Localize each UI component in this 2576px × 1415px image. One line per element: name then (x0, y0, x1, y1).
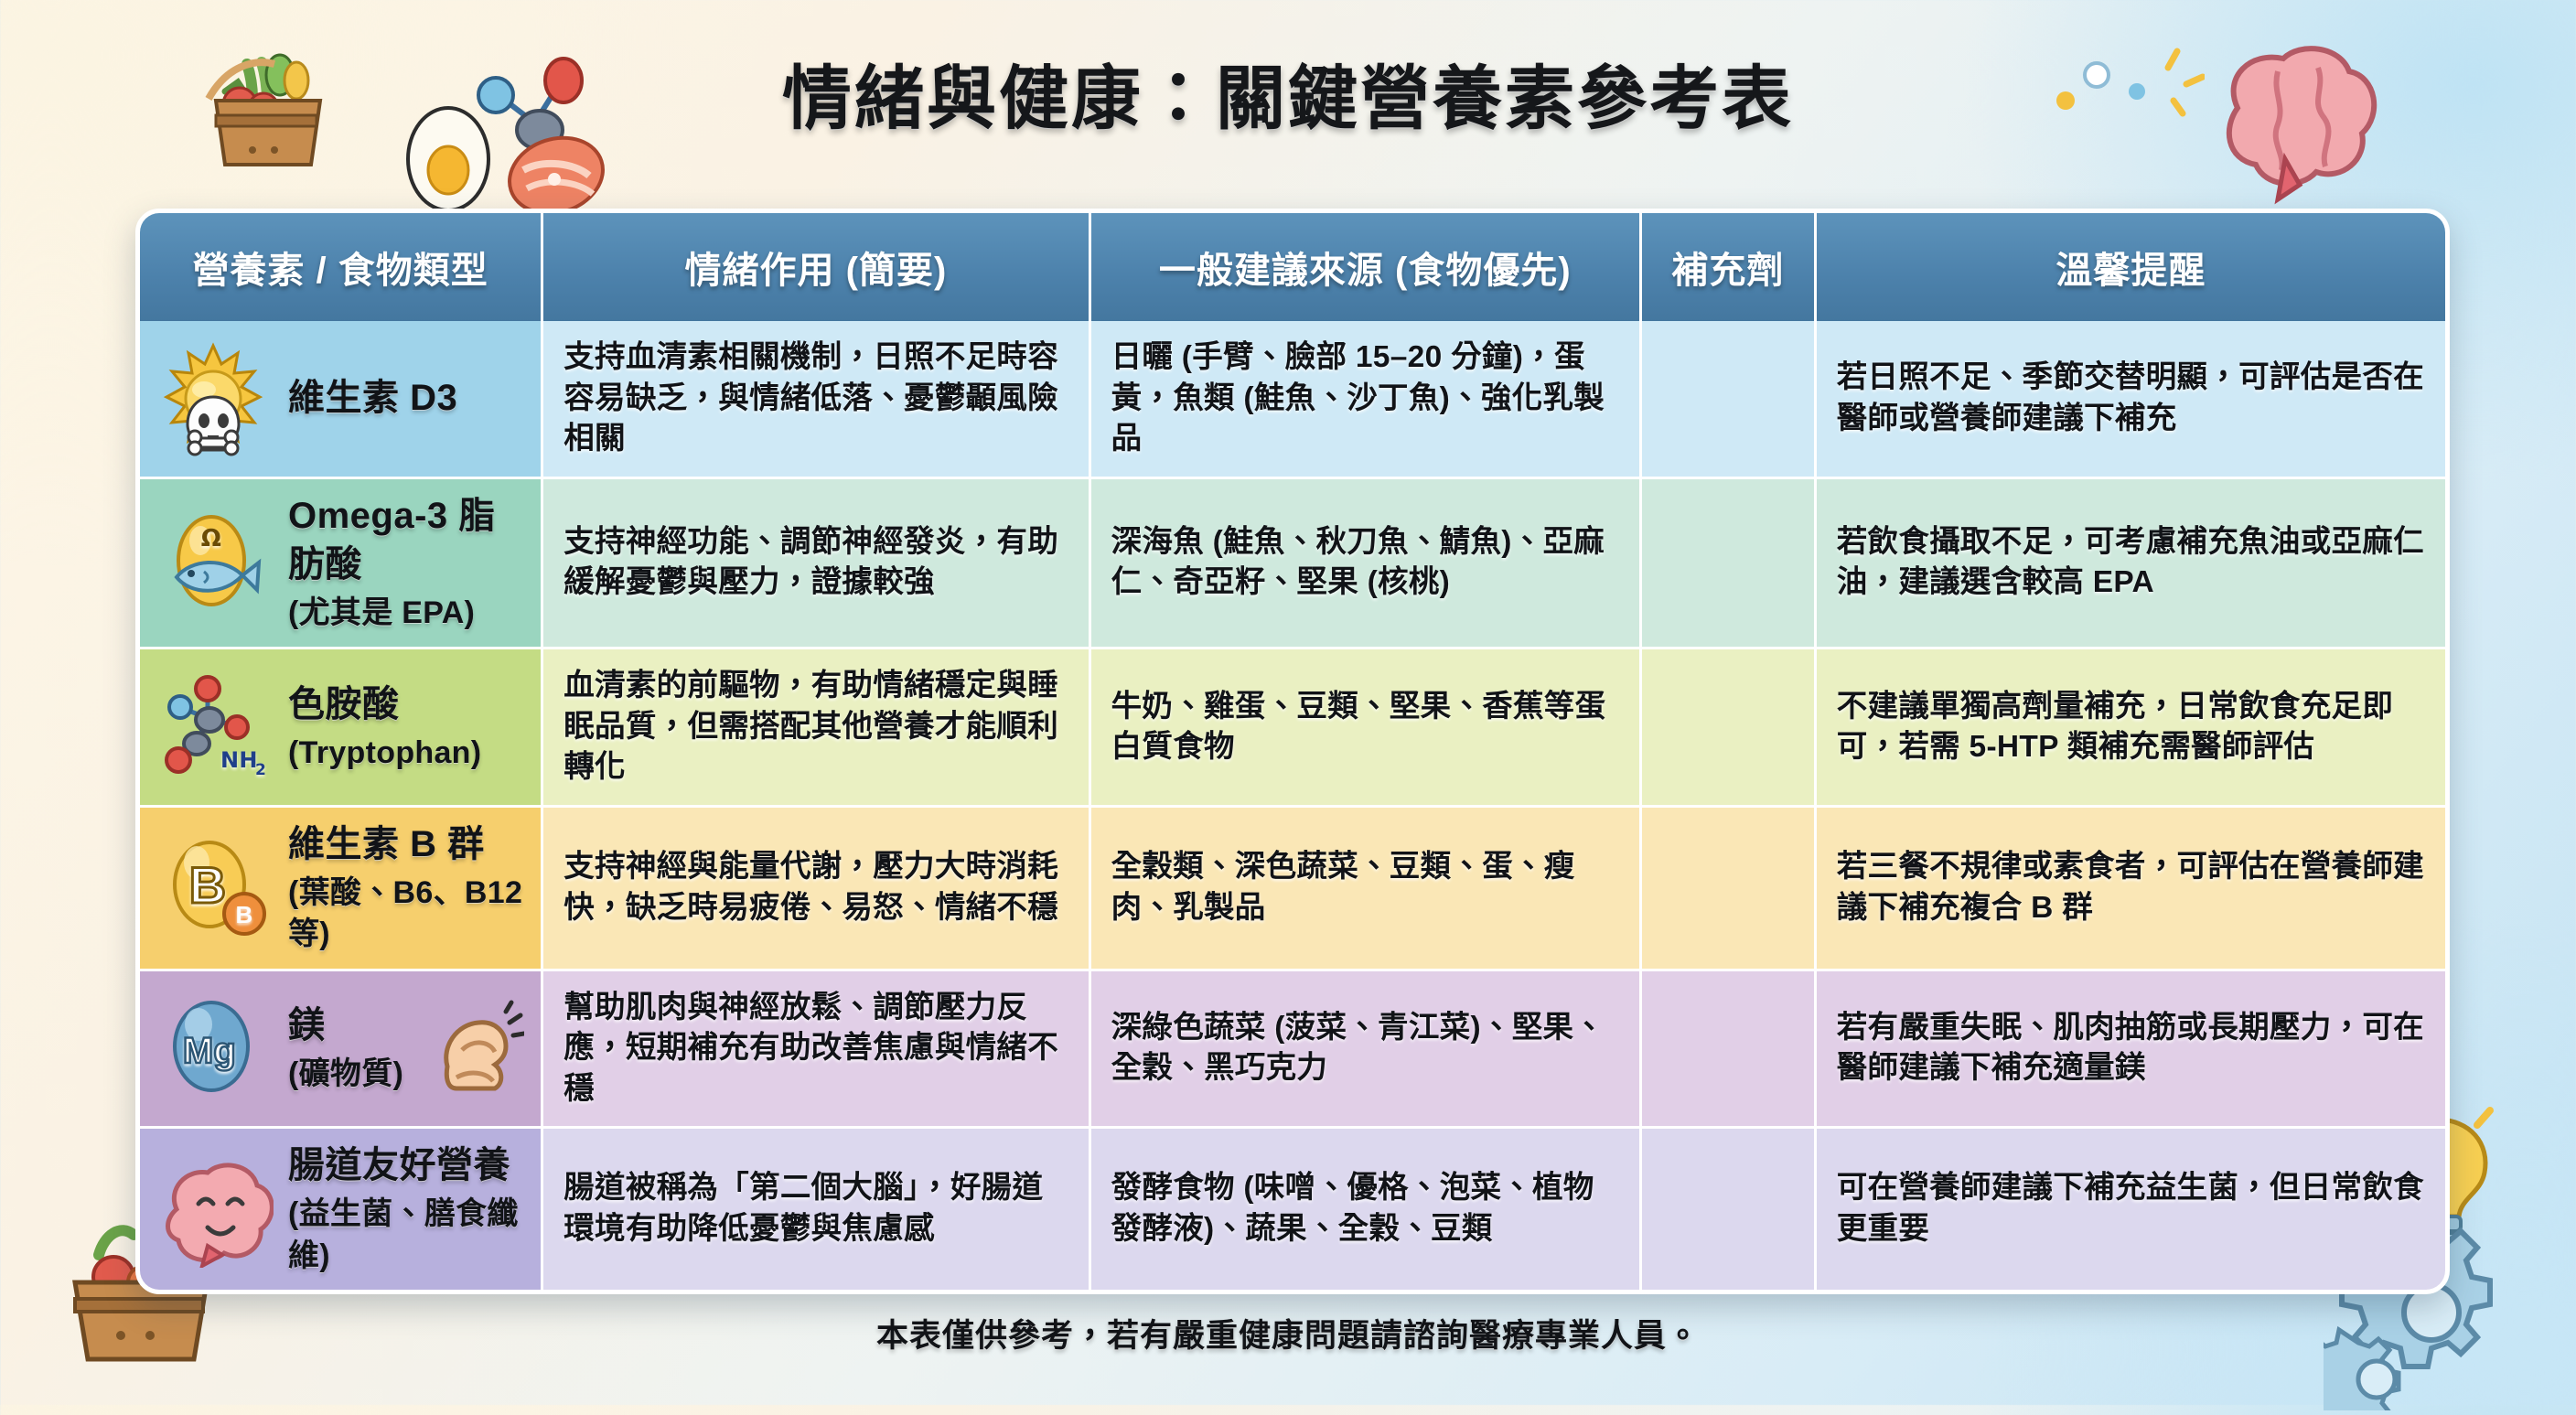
molecule-nh2-icon: NH 2 (156, 669, 274, 786)
cell-effect: 支持血清素相關機制，日照不足時容容易缺乏，與情緒低落、憂鬱顳風險相關 (542, 321, 1089, 477)
flexed-biceps-icon (425, 999, 524, 1098)
fish-capsule-icon: Ω (156, 504, 274, 621)
nutrient-name-line2: (礦物質) (288, 1054, 411, 1095)
cell-sources: 全穀類、深色蔬菜、豆類、蛋、瘦肉、乳製品 (1089, 806, 1640, 970)
cell-supplement (1640, 1128, 1815, 1290)
happy-brain-icon (156, 1151, 274, 1268)
page-title: 情緒與健康：關鍵營養素參考表 (782, 42, 1794, 143)
page-title-wrap: 情緒與健康：關鍵營養素參考表 (0, 42, 2576, 143)
magnesium-pill-icon: Mg (156, 990, 274, 1107)
cell-reminder: 可在營養師建議下補充益生菌，但日常飲食更重要 (1815, 1128, 2445, 1290)
cell-supplement (1640, 477, 1815, 649)
cell-nutrient-name: Mg 鎂 (礦物質) (140, 970, 542, 1128)
cell-nutrient-name: NH 2 色胺酸 (Tryptophan) (140, 649, 542, 807)
cell-sources: 日曬 (手臂、臉部 15–20 分鐘)，蛋黃，魚類 (鮭魚、沙丁魚)、強化乳製品 (1089, 321, 1640, 477)
cell-sources: 深海魚 (鮭魚、秋刀魚、鯖魚)、亞麻仁、奇亞籽、堅果 (核桃) (1089, 477, 1640, 649)
cell-effect: 血清素的前驅物，有助情緒穩定與睡眠品質，但需搭配其他營養才能順利轉化 (542, 649, 1089, 807)
table-row: 維生素 D3 支持血清素相關機制，日照不足時容容易缺乏，與情緒低落、憂鬱顳風險相… (140, 321, 2445, 477)
nutrient-table-card: 營養素 / 食物類型 情緒作用 (簡要) 一般建議來源 (食物優先) 補充劑 溫… (135, 209, 2450, 1294)
nutrient-name-line1: 維生素 D3 (288, 374, 524, 423)
table-row: 腸道友好營養 (益生菌、膳食纖維) 腸道被稱為「第二個大腦」，好腸道環境有助降低… (140, 1128, 2445, 1290)
nutrient-name-line1: 維生素 B 群 (288, 820, 524, 869)
column-header-reminder: 溫馨提醒 (1815, 213, 2445, 321)
cell-reminder: 若三餐不規律或素食者，可評估在營養師建議下補充複合 B 群 (1815, 806, 2445, 970)
cell-supplement (1640, 970, 1815, 1128)
cell-nutrient-name: 維生素 D3 (140, 321, 542, 477)
svg-text:B: B (235, 901, 252, 928)
column-header-sources: 一般建議來源 (食物優先) (1089, 213, 1640, 321)
nutrient-name-line2: (益生菌、膳食纖維) (288, 1194, 524, 1276)
cell-supplement (1640, 806, 1815, 970)
cell-nutrient-name: 腸道友好營養 (益生菌、膳食纖維) (140, 1128, 542, 1290)
svg-text:Ω: Ω (201, 525, 221, 552)
cell-sources: 深綠色蔬菜 (菠菜、青江菜)、堅果、全穀、黑巧克力 (1089, 970, 1640, 1128)
cell-supplement (1640, 649, 1815, 807)
nutrient-table: 營養素 / 食物類型 情緒作用 (簡要) 一般建議來源 (食物優先) 補充劑 溫… (140, 213, 2445, 1290)
cell-sources: 牛奶、雞蛋、豆類、堅果、香蕉等蛋白質食物 (1089, 649, 1640, 807)
table-row: B B 維生素 B 群 (葉酸、B6、B12 等) 支持神經與能量代謝，壓力大時… (140, 806, 2445, 970)
nutrient-name-line1: 腸道友好營養 (288, 1142, 524, 1190)
svg-text:B: B (189, 856, 227, 914)
cell-reminder: 若飲食攝取不足，可考慮補充魚油或亞麻仁油，建議選含較高 EPA (1815, 477, 2445, 649)
table-row: Mg 鎂 (礦物質) (140, 970, 2445, 1128)
cell-nutrient-name: B B 維生素 B 群 (葉酸、B6、B12 等) (140, 806, 542, 970)
svg-text:NH: NH (220, 747, 258, 773)
svg-text:Mg: Mg (183, 1031, 236, 1071)
cell-effect: 支持神經與能量代謝，壓力大時消耗快，缺乏時易疲倦、易怒、情緒不穩 (542, 806, 1089, 970)
nutrient-name-line1: 色胺酸 (288, 681, 524, 729)
cell-effect: 幫助肌肉與神經放鬆、調節壓力反應，短期補充有助改善焦慮與情緒不穩 (542, 970, 1089, 1128)
svg-text:2: 2 (255, 761, 266, 779)
table-header-row: 營養素 / 食物類型 情緒作用 (簡要) 一般建議來源 (食物優先) 補充劑 溫… (140, 213, 2445, 321)
table-row: NH 2 色胺酸 (Tryptophan) 血清素的前驅物，有助情緒穩定與睡眠品… (140, 649, 2445, 807)
vitamin-b-capsule-icon: B B (156, 830, 274, 947)
cell-reminder: 不建議單獨高劑量補充，日常飲食充足即可，若需 5-HTP 類補充需醫師評估 (1815, 649, 2445, 807)
nutrient-name-line1: 鎂 (288, 1002, 411, 1050)
cell-nutrient-name: Ω Omega-3 脂肪酸 (尤其是 EPA) (140, 477, 542, 649)
nutrient-name-line2: (尤其是 EPA) (288, 593, 524, 634)
cell-reminder: 若有嚴重失眠、肌肉抽筋或長期壓力，可在醫師建議下補充適量鎂 (1815, 970, 2445, 1128)
sun-bone-icon (156, 340, 274, 457)
column-header-supplement: 補充劑 (1640, 213, 1815, 321)
column-header-nutrient: 營養素 / 食物類型 (140, 213, 542, 321)
cell-effect: 支持神經功能、調節神經發炎，有助緩解憂鬱與壓力，證據較強 (542, 477, 1089, 649)
column-header-effect: 情緒作用 (簡要) (542, 213, 1089, 321)
footer-disclaimer: 本表僅供參考，若有嚴重健康問題請諮詢醫療專業人員。 (0, 1310, 2576, 1356)
nutrient-name-line2: (Tryptophan) (288, 733, 524, 774)
table-row: Ω Omega-3 脂肪酸 (尤其是 EPA) (140, 477, 2445, 649)
cell-sources: 發酵食物 (味噌、優格、泡菜、植物發酵液)、蔬果、全穀、豆類 (1089, 1128, 1640, 1290)
nutrient-name-line1: Omega-3 脂肪酸 (288, 492, 524, 589)
nutrient-name-line2: (葉酸、B6、B12 等) (288, 873, 524, 955)
cell-supplement (1640, 321, 1815, 477)
cell-effect: 腸道被稱為「第二個大腦」，好腸道環境有助降低憂鬱與焦慮感 (542, 1128, 1089, 1290)
cell-reminder: 若日照不足、季節交替明顯，可評估是否在醫師或營養師建議下補充 (1815, 321, 2445, 477)
